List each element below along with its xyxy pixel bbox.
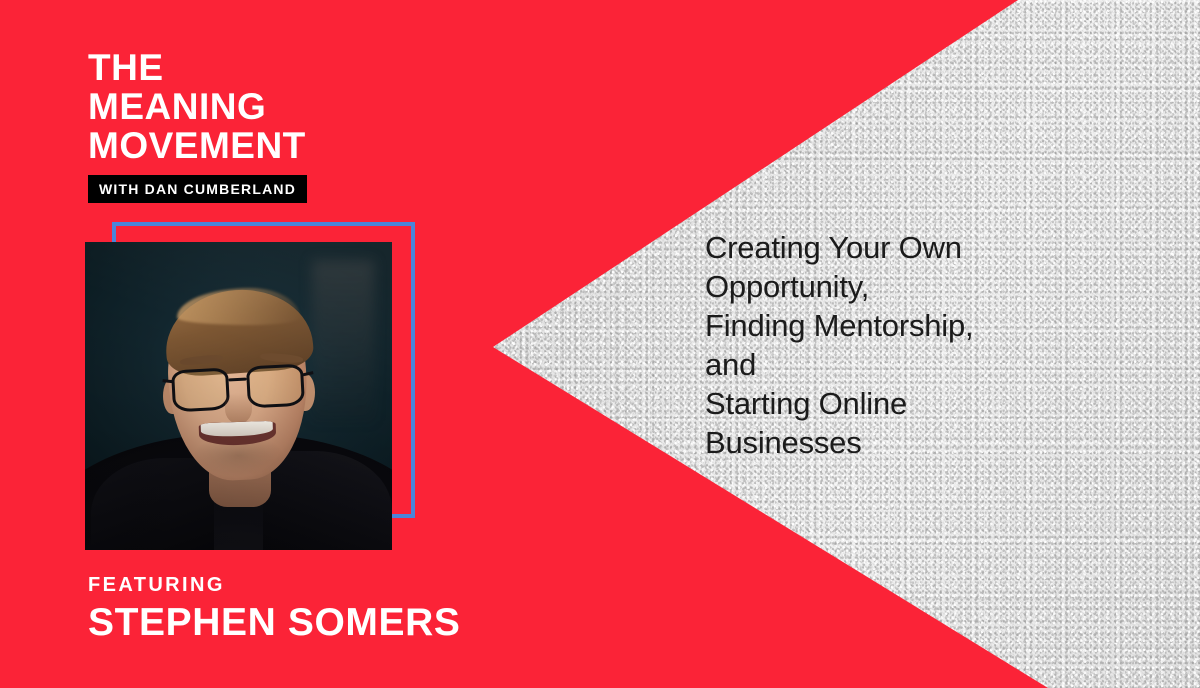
guest-name: STEPHEN SOMERS bbox=[88, 601, 460, 645]
brand-line-movement: MOVEMENT bbox=[88, 126, 307, 165]
guest-portrait-illustration bbox=[85, 242, 392, 550]
host-badge: WITH DAN CUMBERLAND bbox=[88, 175, 307, 203]
featuring-block: FEATURING STEPHEN SOMERS bbox=[88, 574, 460, 645]
guest-photo bbox=[85, 242, 392, 550]
podcast-episode-artwork: THE MEANING MOVEMENT WITH DAN CUMBERLAND bbox=[0, 0, 1200, 688]
episode-title-line-6: Businesses bbox=[705, 423, 1125, 462]
episode-title-line-1: Creating Your Own bbox=[705, 228, 1125, 267]
episode-title: Creating Your Own Opportunity, Finding M… bbox=[705, 228, 1125, 462]
brand-line-the: THE bbox=[88, 48, 307, 87]
portrait-vignette bbox=[85, 242, 392, 550]
episode-title-line-4: and bbox=[705, 345, 1125, 384]
episode-title-line-5: Starting Online bbox=[705, 384, 1125, 423]
featuring-label: FEATURING bbox=[88, 574, 460, 597]
episode-title-line-2: Opportunity, bbox=[705, 267, 1125, 306]
brand-line-meaning: MEANING bbox=[88, 87, 307, 126]
brand-lockup: THE MEANING MOVEMENT WITH DAN CUMBERLAND bbox=[88, 48, 307, 203]
episode-title-line-3: Finding Mentorship, bbox=[705, 306, 1125, 345]
